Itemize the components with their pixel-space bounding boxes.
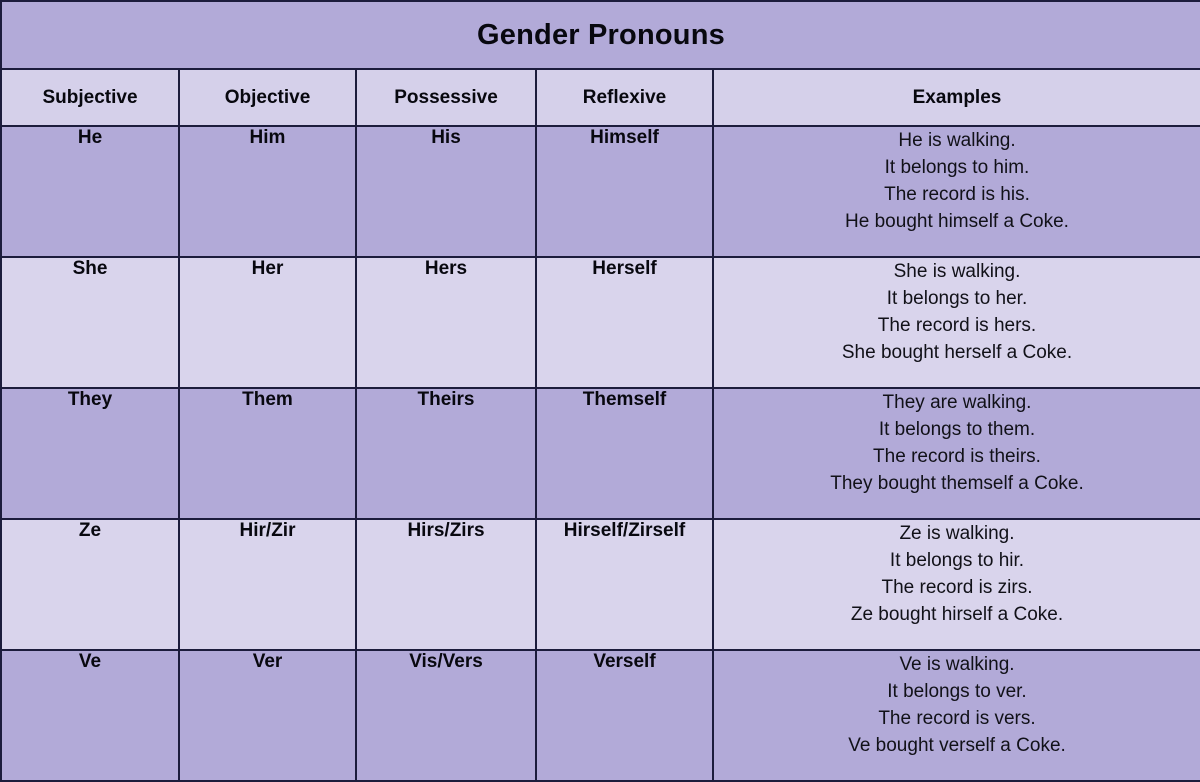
example-line: It belongs to him. (714, 154, 1200, 181)
column-header-objective: Objective (179, 69, 356, 126)
example-line: Ze is walking. (714, 520, 1200, 547)
table-body: He Him His Himself He is walking. It bel… (1, 126, 1200, 781)
cell-objective: Her (179, 257, 356, 388)
example-line: It belongs to ver. (714, 678, 1200, 705)
cell-examples: Ve is walking. It belongs to ver. The re… (713, 650, 1200, 781)
example-line: The record is zirs. (714, 574, 1200, 601)
header-row: Subjective Objective Possessive Reflexiv… (1, 69, 1200, 126)
cell-possessive: Vis/Vers (356, 650, 536, 781)
cell-possessive: Theirs (356, 388, 536, 519)
cell-objective: Them (179, 388, 356, 519)
example-line: She is walking. (714, 258, 1200, 285)
cell-objective: Hir/Zir (179, 519, 356, 650)
example-line: The record is his. (714, 181, 1200, 208)
cell-subjective: She (1, 257, 179, 388)
example-line: She bought herself a Coke. (714, 339, 1200, 366)
cell-possessive: Hers (356, 257, 536, 388)
example-line: Ve is walking. (714, 651, 1200, 678)
cell-reflexive: Himself (536, 126, 713, 257)
example-line: It belongs to them. (714, 416, 1200, 443)
example-line: They bought themself a Coke. (714, 470, 1200, 497)
table-row: They Them Theirs Themself They are walki… (1, 388, 1200, 519)
example-line: The record is vers. (714, 705, 1200, 732)
cell-reflexive: Hirself/Zirself (536, 519, 713, 650)
cell-subjective: They (1, 388, 179, 519)
example-line: He bought himself a Coke. (714, 208, 1200, 235)
cell-objective: Ver (179, 650, 356, 781)
table-row: Ze Hir/Zir Hirs/Zirs Hirself/Zirself Ze … (1, 519, 1200, 650)
cell-reflexive: Themself (536, 388, 713, 519)
example-line: It belongs to hir. (714, 547, 1200, 574)
page-title: Gender Pronouns (1, 1, 1200, 69)
example-line: The record is hers. (714, 312, 1200, 339)
cell-possessive: His (356, 126, 536, 257)
title-row: Gender Pronouns (1, 1, 1200, 69)
example-line: Ve bought verself a Coke. (714, 732, 1200, 759)
example-line: He is walking. (714, 127, 1200, 154)
example-line: The record is theirs. (714, 443, 1200, 470)
table-row: Ve Ver Vis/Vers Verself Ve is walking. I… (1, 650, 1200, 781)
cell-subjective: He (1, 126, 179, 257)
cell-objective: Him (179, 126, 356, 257)
cell-reflexive: Verself (536, 650, 713, 781)
cell-subjective: Ze (1, 519, 179, 650)
cell-examples: They are walking. It belongs to them. Th… (713, 388, 1200, 519)
column-header-possessive: Possessive (356, 69, 536, 126)
table-row: She Her Hers Herself She is walking. It … (1, 257, 1200, 388)
cell-examples: He is walking. It belongs to him. The re… (713, 126, 1200, 257)
cell-possessive: Hirs/Zirs (356, 519, 536, 650)
cell-subjective: Ve (1, 650, 179, 781)
example-line: It belongs to her. (714, 285, 1200, 312)
column-header-subjective: Subjective (1, 69, 179, 126)
example-line: They are walking. (714, 389, 1200, 416)
cell-examples: She is walking. It belongs to her. The r… (713, 257, 1200, 388)
table-row: He Him His Himself He is walking. It bel… (1, 126, 1200, 257)
column-header-reflexive: Reflexive (536, 69, 713, 126)
cell-reflexive: Herself (536, 257, 713, 388)
cell-examples: Ze is walking. It belongs to hir. The re… (713, 519, 1200, 650)
gender-pronouns-table: Gender Pronouns Subjective Objective Pos… (0, 0, 1200, 782)
column-header-examples: Examples (713, 69, 1200, 126)
example-line: Ze bought hirself a Coke. (714, 601, 1200, 628)
